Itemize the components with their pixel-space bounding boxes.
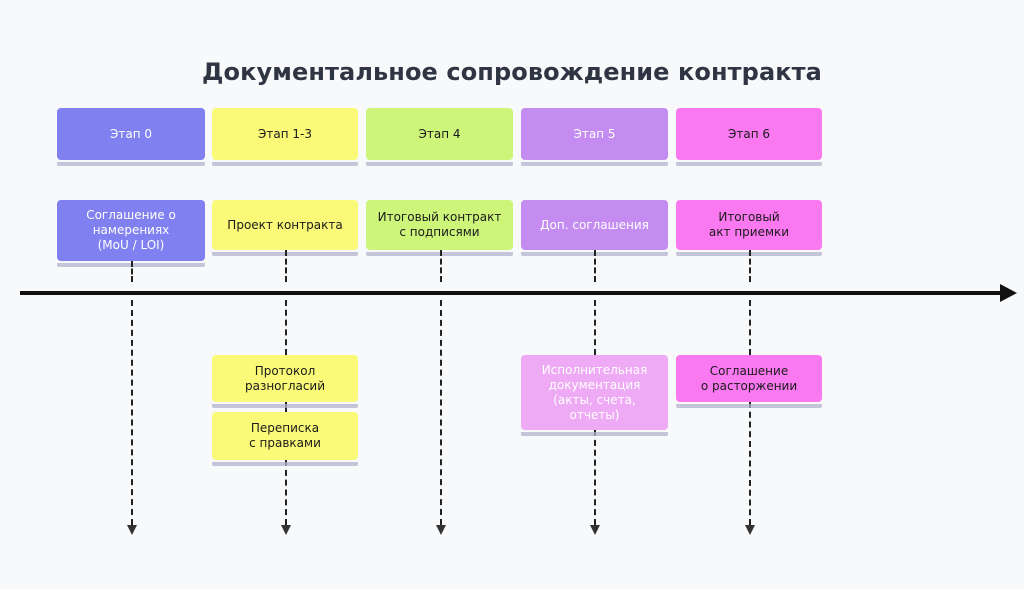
connector-stage-4-segment-1: [440, 300, 442, 525]
primary-document-box-4[interactable]: Итоговый акт приемки: [676, 200, 822, 250]
connector-stage-0-segment-1: [131, 300, 133, 525]
stage-box-0[interactable]: Этап 0: [57, 108, 205, 160]
stage-box-1[interactable]: Этап 1-3: [212, 108, 358, 160]
connector-stage-6-segment-2: [749, 402, 751, 525]
connector-stage-1-3-arrow-icon: [281, 525, 291, 535]
secondary-document-box-3[interactable]: Соглашение о расторжении: [676, 355, 822, 402]
page-title: Документальное сопровождение контракта: [0, 58, 1024, 86]
timeline-axis-line: [20, 291, 1005, 295]
stage-box-3[interactable]: Этап 5: [521, 108, 668, 160]
secondary-document-box-1[interactable]: Переписка с правками: [212, 412, 358, 460]
connector-stage-1-3-segment-0: [285, 250, 287, 282]
stage-box-2[interactable]: Этап 4: [366, 108, 513, 160]
connector-stage-1-3-segment-3: [285, 460, 287, 525]
stage-box-4[interactable]: Этап 6: [676, 108, 822, 160]
primary-document-box-2[interactable]: Итоговый контракт с подписями: [366, 200, 513, 250]
diagram-canvas: Документальное сопровождение контракта Э…: [0, 0, 1024, 589]
connector-stage-6-segment-1: [749, 300, 751, 355]
timeline-arrow-icon: [1000, 284, 1017, 302]
connector-stage-5-segment-0: [594, 250, 596, 282]
connector-stage-5-arrow-icon: [590, 525, 600, 535]
connector-stage-4-arrow-icon: [436, 525, 446, 535]
primary-document-box-1[interactable]: Проект контракта: [212, 200, 358, 250]
connector-stage-6-arrow-icon: [745, 525, 755, 535]
connector-stage-6-segment-0: [749, 250, 751, 282]
connector-stage-4-segment-0: [440, 250, 442, 282]
connector-stage-0-arrow-icon: [127, 525, 137, 535]
connector-stage-5-segment-1: [594, 300, 596, 355]
secondary-document-box-2[interactable]: Исполнительная документация (акты, счета…: [521, 355, 668, 430]
primary-document-box-3[interactable]: Доп. соглашения: [521, 200, 668, 250]
connector-stage-1-3-segment-1: [285, 300, 287, 355]
primary-document-box-0[interactable]: Соглашение о намерениях (MoU / LOI): [57, 200, 205, 261]
connector-stage-5-segment-2: [594, 430, 596, 525]
connector-stage-0-segment-0: [131, 261, 133, 282]
secondary-document-box-0[interactable]: Протокол разногласий: [212, 355, 358, 402]
